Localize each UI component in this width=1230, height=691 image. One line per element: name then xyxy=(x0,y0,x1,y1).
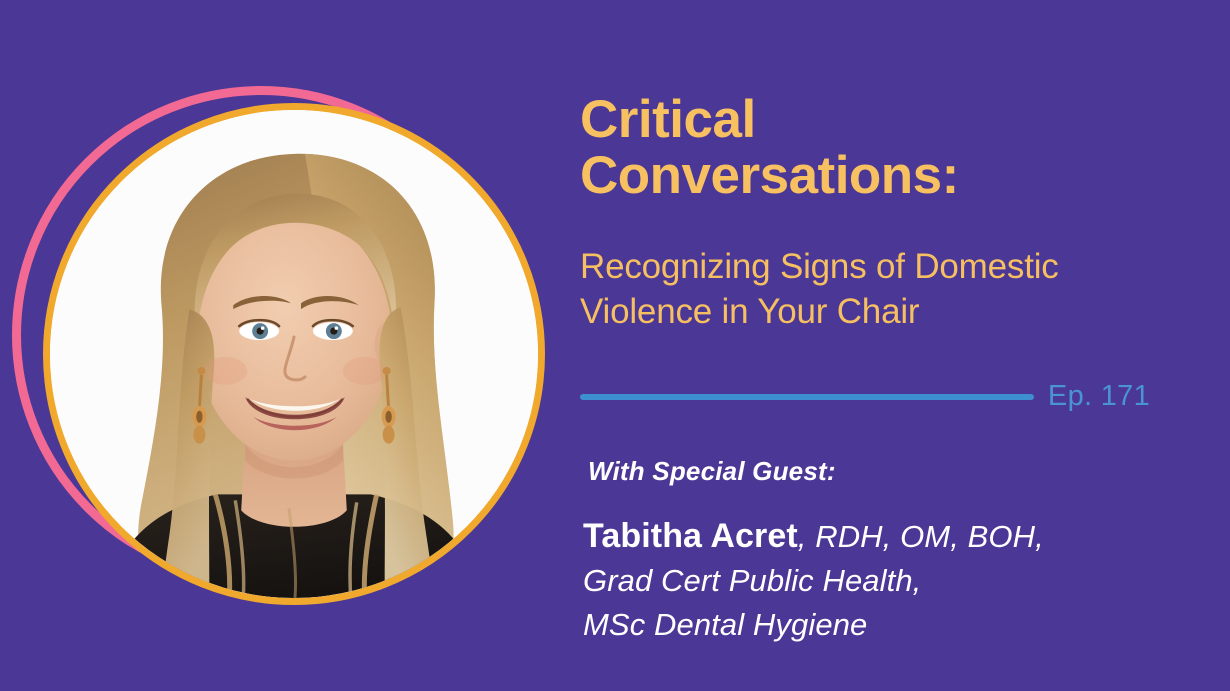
slide-text-column: Critical Conversations: Recognizing Sign… xyxy=(580,0,1220,691)
divider-rule xyxy=(580,394,1034,400)
guest-credentials-line-2: Grad Cert Public Health, xyxy=(583,563,921,598)
guest-name: Tabitha Acret xyxy=(583,517,798,555)
guest-intro-label: With Special Guest: xyxy=(588,456,836,487)
subtitle-line-2: Violence in Your Chair xyxy=(580,292,919,331)
guest-portrait-medallion xyxy=(0,0,560,691)
guest-details: Tabitha Acret, RDH, OM, BOH, Grad Cert P… xyxy=(583,514,1203,647)
avatar xyxy=(50,110,538,598)
title-line-2: Conversations: xyxy=(580,146,959,205)
episode-row: Ep. 171 xyxy=(580,380,1150,413)
page-title: Critical Conversations: xyxy=(580,92,1200,204)
portrait-illustration xyxy=(50,110,538,598)
subtitle-line-1: Recognizing Signs of Domestic xyxy=(580,247,1059,286)
guest-credentials-line-3: MSc Dental Hygiene xyxy=(583,607,867,642)
guest-credentials-line-1: , RDH, OM, BOH, xyxy=(798,519,1044,554)
portrait-gold-frame xyxy=(43,103,545,605)
podcast-title-slide: Critical Conversations: Recognizing Sign… xyxy=(0,0,1230,691)
episode-number: Ep. 171 xyxy=(1048,380,1150,413)
title-line-1: Critical xyxy=(580,90,756,149)
page-subtitle: Recognizing Signs of Domestic Violence i… xyxy=(580,244,1210,334)
